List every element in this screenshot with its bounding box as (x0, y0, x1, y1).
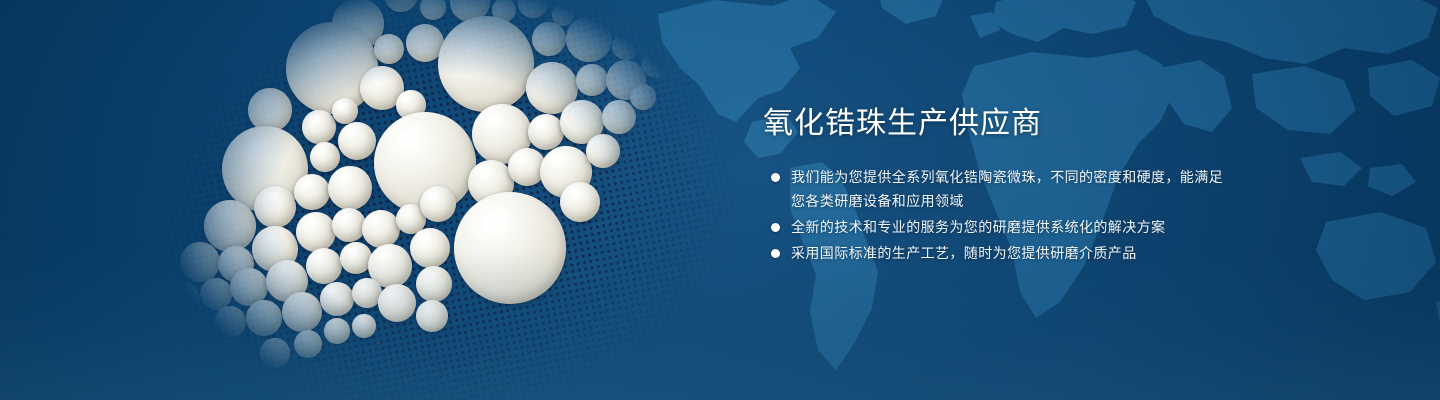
banner-headline: 氧化锆珠生产供应商 (763, 104, 1233, 144)
bullet-text: 采用国际标准的生产工艺，随时为您提供研磨介质产品 (791, 245, 1137, 261)
banner-bullet-list: 我们能为您提供全系列氧化锆陶瓷微珠，不同的密度和硬度，能满足您各类研磨设备和应用… (763, 165, 1233, 265)
bullet-text: 我们能为您提供全系列氧化锆陶瓷微珠，不同的密度和硬度，能满足您各类研磨设备和应用… (791, 169, 1223, 209)
bullet-item: 采用国际标准的生产工艺，随时为您提供研磨介质产品 (763, 241, 1233, 265)
hero-banner: 氧化锆珠生产供应商 我们能为您提供全系列氧化锆陶瓷微珠，不同的密度和硬度，能满足… (0, 0, 1440, 400)
bullet-dot-icon (771, 223, 780, 232)
bullet-item: 我们能为您提供全系列氧化锆陶瓷微珠，不同的密度和硬度，能满足您各类研磨设备和应用… (763, 165, 1233, 213)
banner-copy: 氧化锆珠生产供应商 我们能为您提供全系列氧化锆陶瓷微珠，不同的密度和硬度，能满足… (763, 104, 1233, 267)
bottom-glow (0, 250, 1440, 400)
bullet-dot-icon (771, 249, 780, 258)
bullet-text: 全新的技术和专业的服务为您的研磨提供系统化的解决方案 (791, 219, 1165, 235)
bullet-item: 全新的技术和专业的服务为您的研磨提供系统化的解决方案 (763, 215, 1233, 239)
bullet-dot-icon (771, 173, 780, 182)
